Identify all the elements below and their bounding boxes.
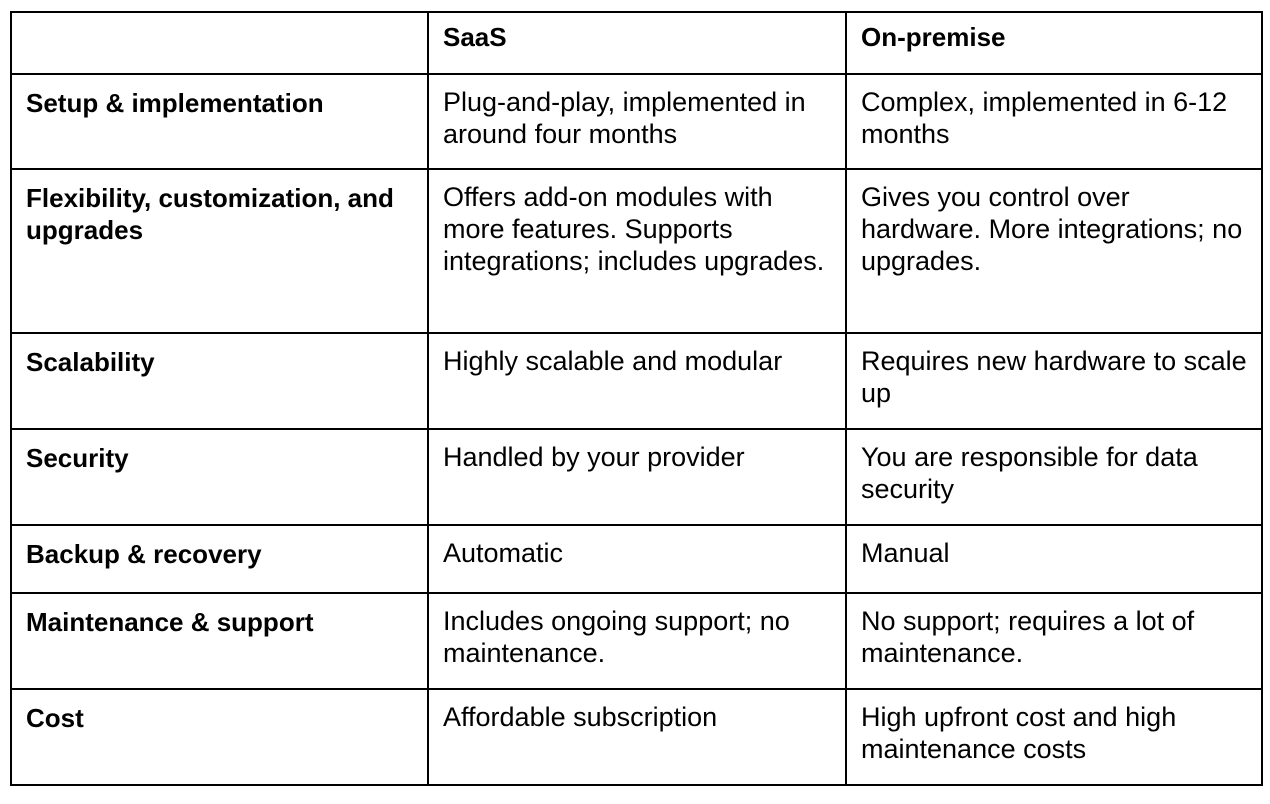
page-root: SaaS On-premise Setup & implementation P… [0,0,1270,804]
table-header: SaaS On-premise [11,12,1262,74]
saas-value-scalability: Highly scalable and modular [428,333,846,429]
feature-label-scalability: Scalability [11,333,428,429]
saas-value-flexibility-customization-upgrades: Offers add-on modules with more features… [428,169,846,333]
saas-value-backup-recovery: Automatic [428,525,846,593]
feature-label-cost: Cost [11,689,428,785]
saas-value-maintenance-support: Includes ongoing support; no maintenance… [428,593,846,689]
feature-label-setup-implementation: Setup & implementation [11,74,428,169]
table-header-row: SaaS On-premise [11,12,1262,74]
saas-vs-onpremise-comparison-table: SaaS On-premise Setup & implementation P… [10,11,1263,786]
column-header-onpremise: On-premise [846,12,1262,74]
table-body: Setup & implementation Plug-and-play, im… [11,74,1262,785]
feature-label-security: Security [11,429,428,525]
table-row: Backup & recovery Automatic Manual [11,525,1262,593]
table-row: Scalability Highly scalable and modular … [11,333,1262,429]
onpremise-value-cost: High upfront cost and high maintenance c… [846,689,1262,785]
feature-label-maintenance-support: Maintenance & support [11,593,428,689]
table-row: Setup & implementation Plug-and-play, im… [11,74,1262,169]
saas-value-setup-implementation: Plug-and-play, implemented in around fou… [428,74,846,169]
column-header-feature [11,12,428,74]
feature-label-flexibility-customization-upgrades: Flexibility, customization, and upgrades [11,169,428,333]
table-row: Cost Affordable subscription High upfron… [11,689,1262,785]
onpremise-value-scalability: Requires new hardware to scale up [846,333,1262,429]
feature-label-backup-recovery: Backup & recovery [11,525,428,593]
table-row: Maintenance & support Includes ongoing s… [11,593,1262,689]
column-header-saas: SaaS [428,12,846,74]
onpremise-value-setup-implementation: Complex, implemented in 6-12 months [846,74,1262,169]
saas-value-security: Handled by your provider [428,429,846,525]
table-row: Flexibility, customization, and upgrades… [11,169,1262,333]
onpremise-value-backup-recovery: Manual [846,525,1262,593]
saas-value-cost: Affordable subscription [428,689,846,785]
onpremise-value-flexibility-customization-upgrades: Gives you control over hardware. More in… [846,169,1262,333]
onpremise-value-security: You are responsible for data security [846,429,1262,525]
onpremise-value-maintenance-support: No support; requires a lot of maintenanc… [846,593,1262,689]
table-row: Security Handled by your provider You ar… [11,429,1262,525]
